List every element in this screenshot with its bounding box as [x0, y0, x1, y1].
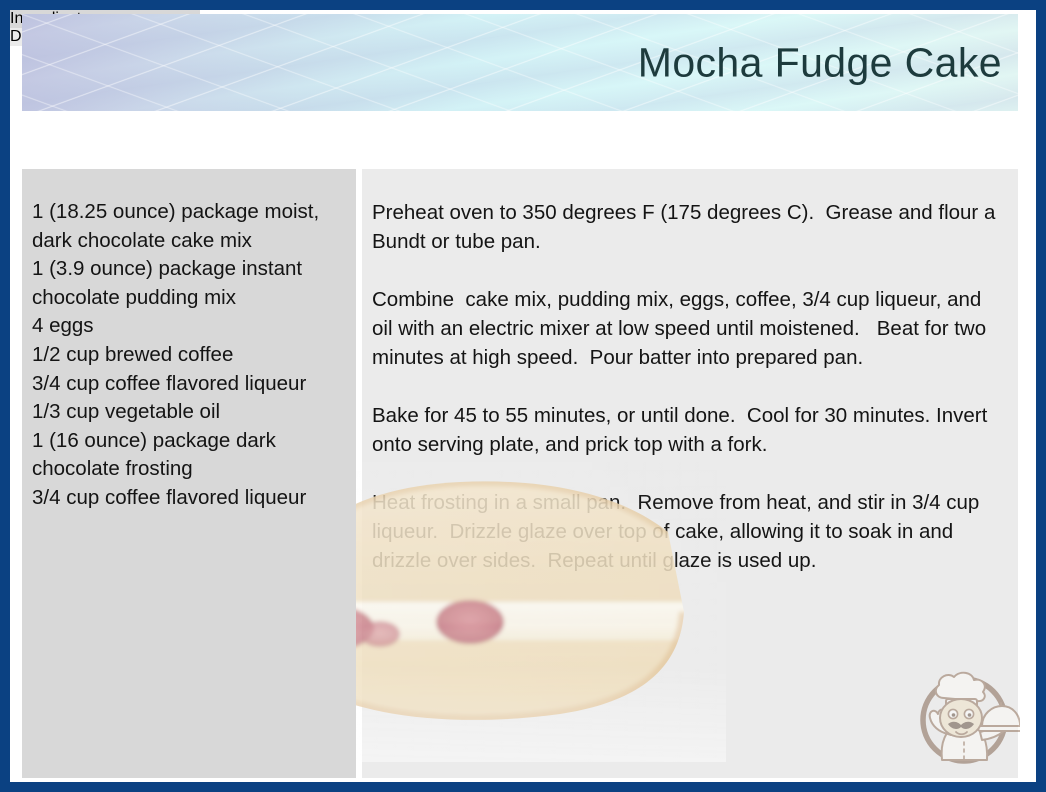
list-item: chocolate pudding mix [32, 284, 350, 313]
list-item: 1/3 cup vegetable oil [32, 398, 350, 427]
list-item: 1 (3.9 ounce) package instant [32, 255, 350, 284]
direction-step: Heat frosting in a small pan. Remove fro… [372, 488, 1000, 575]
ingredients-panel: 1 (18.25 ounce) package moist, dark choc… [22, 169, 356, 778]
directions-body: Preheat oven to 350 degrees F (175 degre… [362, 169, 1018, 575]
list-item: 4 eggs [32, 312, 350, 341]
chef-mascot-logo [908, 658, 1020, 770]
list-item: 3/4 cup coffee flavored liqueur [32, 484, 350, 513]
list-item: 3/4 cup coffee flavored liqueur [32, 370, 350, 399]
list-item: chocolate frosting [32, 455, 350, 484]
direction-step: Preheat oven to 350 degrees F (175 degre… [372, 198, 1000, 256]
list-item: dark chocolate cake mix [32, 227, 350, 256]
page-title: Mocha Fudge Cake [638, 39, 1002, 86]
list-item: 1 (18.25 ounce) package moist, [32, 198, 350, 227]
ingredients-list: 1 (18.25 ounce) package moist, dark choc… [22, 169, 356, 513]
list-item: 1 (16 ounce) package dark [32, 427, 350, 456]
title-banner: Mocha Fudge Cake [22, 14, 1018, 111]
direction-step: Combine cake mix, pudding mix, eggs, cof… [372, 285, 1000, 372]
list-item: 1/2 cup brewed coffee [32, 341, 350, 370]
direction-step: Bake for 45 to 55 minutes, or until done… [372, 401, 1000, 459]
recipe-card: Mocha Fudge Cake Ingredients 1 (18.25 ou… [10, 10, 1036, 782]
